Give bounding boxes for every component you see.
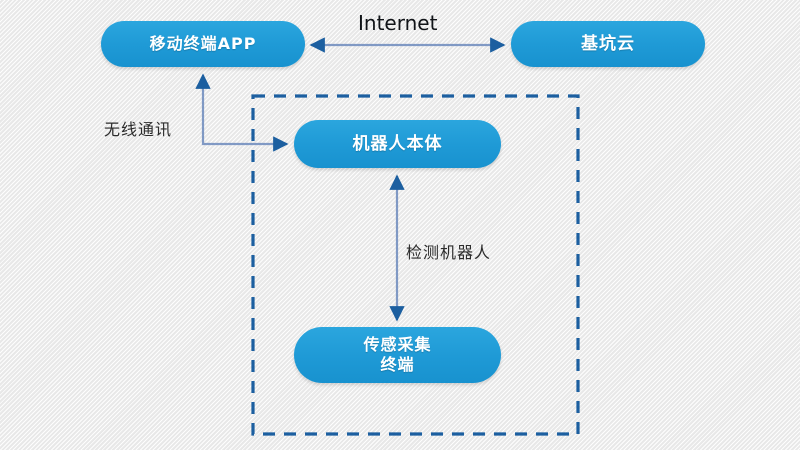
node-mobile-app-label: 移动终端APP	[142, 34, 265, 54]
connector-mobile-app-to-robot-body	[203, 75, 287, 144]
node-pit-cloud[interactable]: 基坑云	[511, 21, 705, 67]
diagram-canvas: 移动终端APP 基坑云 机器人本体 传感采集 终端 Internet 无线通讯 …	[0, 0, 800, 450]
node-mobile-app[interactable]: 移动终端APP	[101, 21, 305, 67]
node-robot-body-label: 机器人本体	[345, 134, 451, 155]
node-sensor-terminal[interactable]: 传感采集 终端	[294, 327, 501, 383]
connector-label-inspection-robot: 检测机器人	[406, 239, 491, 263]
node-sensor-terminal-label: 传感采集 终端	[355, 335, 439, 374]
node-pit-cloud-label: 基坑云	[573, 34, 643, 55]
connector-label-internet: Internet	[358, 11, 437, 35]
node-robot-body[interactable]: 机器人本体	[294, 120, 501, 168]
connector-label-wireless: 无线通讯	[104, 116, 172, 140]
